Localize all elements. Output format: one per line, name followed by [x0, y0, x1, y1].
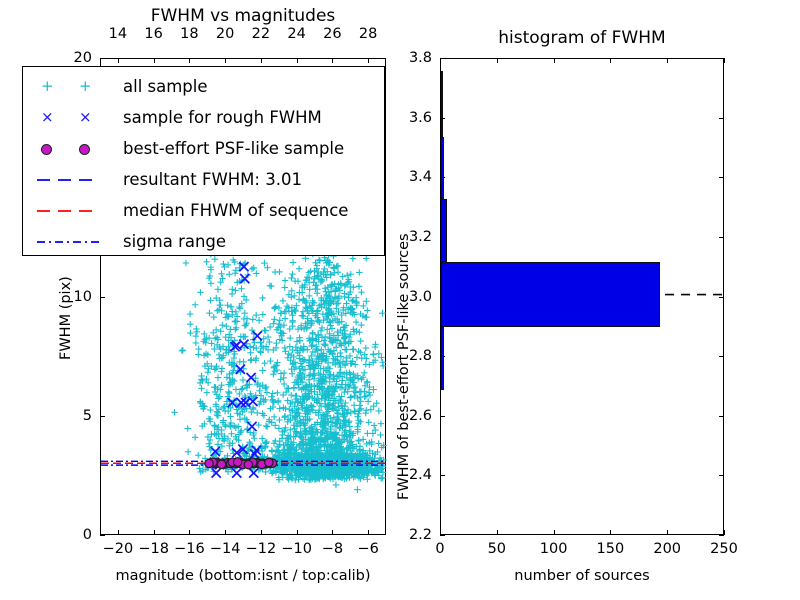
y-tick-label: 2.4: [409, 467, 432, 483]
top-x-tick-label: 26: [323, 26, 341, 42]
histogram-bars: [441, 59, 723, 534]
right-panel-title: histogram of FWHM: [440, 28, 724, 48]
tick-mark: [719, 535, 724, 536]
legend-label: resultant FWHM: 3.01: [123, 164, 302, 195]
legend-glyph-circle-marker-icon: [23, 133, 119, 164]
cross-marker-icon: ×: [41, 110, 54, 125]
legend-label: median FHWM of sequence: [123, 195, 348, 226]
x-tick-label: −20: [103, 541, 134, 557]
legend-row: ××sample for rough FWHM: [23, 102, 384, 133]
histogram-bar: [441, 327, 444, 390]
legend-label: all sample: [123, 71, 208, 102]
right-panel-ylabel: FWHM of best-effort PSF-like sources: [396, 233, 412, 500]
tick-mark: [724, 58, 725, 63]
legend-row: ++all sample: [23, 71, 384, 102]
right-panel-xlabel: number of sources: [440, 568, 724, 584]
y-tick-label: 3.2: [409, 229, 432, 245]
top-x-tick-label: 16: [144, 26, 162, 42]
legend-label: sample for rough FWHM: [123, 102, 322, 133]
x-tick-label: 0: [435, 541, 444, 557]
dashed-line-icon: [33, 195, 113, 226]
tick-mark: [440, 535, 445, 536]
left-panel-title: FWHM vs magnitudes: [100, 6, 386, 26]
left-panel-xlabel: magnitude (bottom:isnt / top:calib): [100, 568, 386, 584]
figure-canvas: FWHM vs magnitudes −20−18−16−14−12−10−8−…: [0, 0, 800, 600]
legend-glyph-dashed-line-icon: [23, 164, 119, 195]
y-tick-label: 2.2: [409, 527, 432, 543]
y-tick-label: 2.8: [409, 348, 432, 364]
y-tick-label: 10: [74, 289, 92, 305]
y-tick-label: 3.6: [409, 110, 432, 126]
tick-mark: [100, 535, 105, 536]
histogram-bar: [441, 262, 660, 328]
top-x-tick-label: 18: [180, 26, 198, 42]
x-tick-label: −16: [174, 541, 205, 557]
top-x-tick-label: 20: [216, 26, 234, 42]
legend-box: ++all sample××sample for rough FWHMbest-…: [22, 66, 385, 256]
x-tick-label: −18: [138, 541, 169, 557]
top-x-tick-label: 22: [252, 26, 270, 42]
top-x-tick-label: 14: [109, 26, 127, 42]
plus-marker-icon: +: [41, 79, 54, 94]
circle-marker-icon: [79, 144, 90, 155]
legend-row: median FHWM of sequence: [23, 195, 384, 226]
dashed-line-icon: [33, 164, 113, 195]
legend-label: best-effort PSF-like sample: [123, 133, 344, 164]
legend-row: sigma range: [23, 226, 384, 257]
legend-glyph-dashdot-line-icon: [23, 226, 119, 257]
x-tick-label: −14: [210, 541, 241, 557]
histogram-bar: [441, 199, 447, 262]
x-tick-label: −6: [357, 541, 378, 557]
dashdot-line-icon: [33, 226, 113, 257]
top-x-tick-label: 28: [359, 26, 377, 42]
y-tick-label: 3.4: [409, 169, 432, 185]
histogram-bar: [441, 137, 444, 200]
cross-marker-icon: ×: [79, 110, 92, 125]
left-panel-ylabel: FWHM (pix): [58, 276, 74, 360]
legend-glyph-plus-marker-icon: ++: [23, 71, 119, 102]
x-tick-label: 50: [488, 541, 506, 557]
x-tick-label: −10: [281, 541, 312, 557]
legend-label: sigma range: [123, 226, 226, 257]
legend-glyph-dashed-line-icon: [23, 195, 119, 226]
legend-row: resultant FWHM: 3.01: [23, 164, 384, 195]
y-tick-label: 3.8: [409, 50, 432, 66]
x-tick-label: 200: [653, 541, 681, 557]
legend-row: best-effort PSF-like sample: [23, 133, 384, 164]
histogram-bar: [441, 71, 443, 137]
x-tick-label: −12: [246, 541, 277, 557]
y-tick-label: 5: [83, 408, 92, 424]
circle-marker-icon: [41, 144, 52, 155]
top-x-tick-label: 24: [287, 26, 305, 42]
y-tick-label: 2.6: [409, 408, 432, 424]
legend-glyph-cross-marker-icon: ××: [23, 102, 119, 133]
x-tick-label: 250: [710, 541, 738, 557]
x-tick-label: 150: [597, 541, 625, 557]
x-tick-label: 100: [540, 541, 568, 557]
tick-mark: [724, 530, 725, 535]
y-tick-label: 20: [74, 50, 92, 66]
y-tick-label: 3.0: [409, 289, 432, 305]
y-tick-label: 0: [83, 527, 92, 543]
x-tick-label: −8: [322, 541, 343, 557]
right-panel-axes: [440, 58, 724, 535]
plus-marker-icon: +: [79, 79, 92, 94]
